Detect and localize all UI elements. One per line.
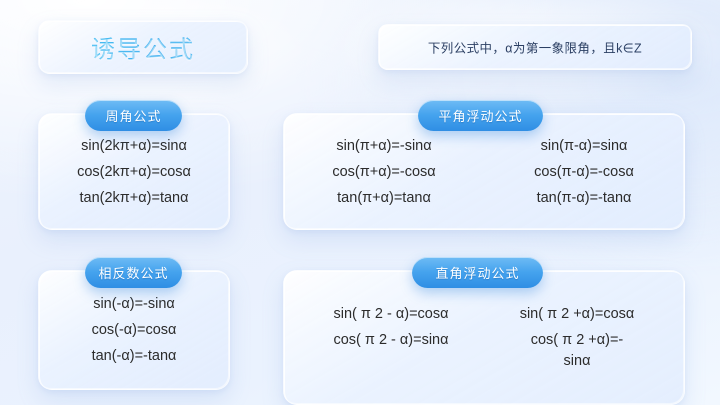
formula-row: sin(π-α)=sinα xyxy=(484,138,684,154)
formula-row: cos(-α)=cosα xyxy=(39,322,229,338)
formula-row: sin( π 2 - α)=cosα xyxy=(332,303,450,324)
title-card: 诱导公式 xyxy=(38,20,248,74)
formula-row: sin( π 2 +α)=cosα xyxy=(518,303,636,324)
section-label-pingjiao[interactable]: 平角浮动公式 xyxy=(418,100,543,131)
formula-column-right: sin( π 2 +α)=cosα cos( π 2 +α)=-sinα xyxy=(484,303,670,371)
formula-column-left: sin( π 2 - α)=cosα cos( π 2 - α)=sinα xyxy=(298,303,484,371)
section-label-xiangfanshu[interactable]: 相反数公式 xyxy=(85,257,182,288)
formula-columns: sin( π 2 - α)=cosα cos( π 2 - α)=sinα si… xyxy=(284,303,684,371)
formula-row: cos( π 2 - α)=sinα xyxy=(332,329,450,350)
section-label-zhijiao[interactable]: 直角浮动公式 xyxy=(412,257,543,288)
formula-columns: sin(π+α)=-sinα cos(π+α)=-cosα tan(π+α)=t… xyxy=(284,138,684,206)
page-title: 诱导公式 xyxy=(39,30,247,65)
formula-row: sin(2kπ+α)=sinα xyxy=(39,138,229,154)
formula-card-zhijiao: sin( π 2 - α)=cosα cos( π 2 - α)=sinα si… xyxy=(283,270,685,405)
formula-list: sin(-α)=-sinα cos(-α)=cosα tan(-α)=-tanα xyxy=(39,296,229,364)
formula-row: tan(2kπ+α)=tanα xyxy=(39,190,229,206)
formula-column-right: sin(π-α)=sinα cos(π-α)=-cosα tan(π-α)=-t… xyxy=(484,138,684,206)
formula-row: sin(-α)=-sinα xyxy=(39,296,229,312)
formula-column-left: sin(π+α)=-sinα cos(π+α)=-cosα tan(π+α)=t… xyxy=(284,138,484,206)
formula-card-xiangfanshu: sin(-α)=-sinα cos(-α)=cosα tan(-α)=-tanα xyxy=(38,270,230,390)
formula-row: sin(π+α)=-sinα xyxy=(284,138,484,154)
section-label-zhoujiao[interactable]: 周角公式 xyxy=(85,100,182,131)
formula-list: sin(2kπ+α)=sinα cos(2kπ+α)=cosα tan(2kπ+… xyxy=(39,138,229,206)
header-note-card: 下列公式中，α为第一象限角，且k∈Z xyxy=(378,24,692,70)
formula-row: tan(π-α)=-tanα xyxy=(484,190,684,206)
formula-row: cos(π+α)=-cosα xyxy=(284,164,484,180)
formula-row: cos(π-α)=-cosα xyxy=(484,164,684,180)
formula-row: cos( π 2 +α)=-sinα xyxy=(518,329,636,371)
formula-row: tan(-α)=-tanα xyxy=(39,348,229,364)
slide-canvas: 诱导公式 下列公式中，α为第一象限角，且k∈Z 周角公式 sin(2kπ+α)=… xyxy=(0,0,720,405)
formula-row: cos(2kπ+α)=cosα xyxy=(39,164,229,180)
header-note-text: 下列公式中，α为第一象限角，且k∈Z xyxy=(379,38,691,57)
formula-row: tan(π+α)=tanα xyxy=(284,190,484,206)
